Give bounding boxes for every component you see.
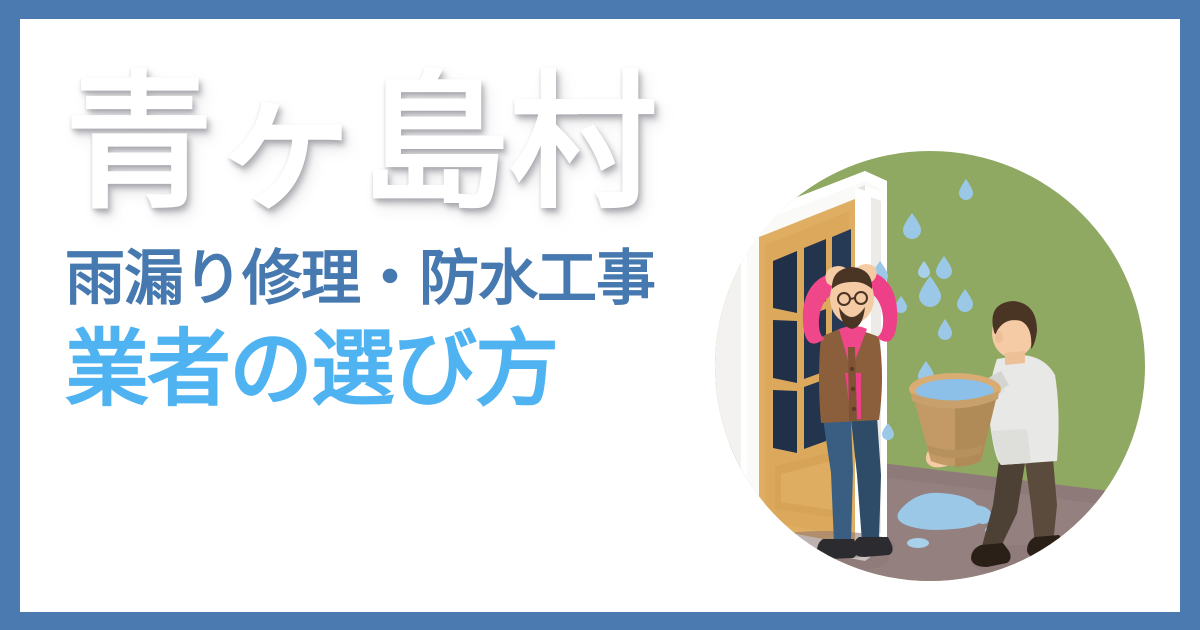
subtitle-topic: 業者の選び方 xyxy=(65,327,805,411)
man-glasses-bridge xyxy=(850,298,855,299)
page-title: 青ヶ島村 xyxy=(65,69,805,217)
cardigan-button xyxy=(852,407,856,411)
puddle-droplet-small xyxy=(976,514,990,524)
bucket-man-neck xyxy=(1005,351,1025,365)
bucket-man-front-shoe xyxy=(1027,535,1067,559)
puddle-droplet-small xyxy=(907,538,929,548)
cardigan-button xyxy=(850,367,854,371)
banner-canvas: 青ヶ島村 雨漏り修理・防水工事 業者の選び方 xyxy=(0,0,1200,630)
inner-white-card: 青ヶ島村 雨漏り修理・防水工事 業者の選び方 xyxy=(20,19,1180,612)
cardigan-button xyxy=(851,387,855,391)
man-right-shoe xyxy=(853,537,893,557)
headline-block: 青ヶ島村 雨漏り修理・防水工事 業者の選び方 xyxy=(65,69,805,411)
bucket-man-ear xyxy=(995,331,1003,343)
man-left-shoe xyxy=(817,539,857,559)
subtitle-service: 雨漏り修理・防水工事 xyxy=(65,249,805,309)
